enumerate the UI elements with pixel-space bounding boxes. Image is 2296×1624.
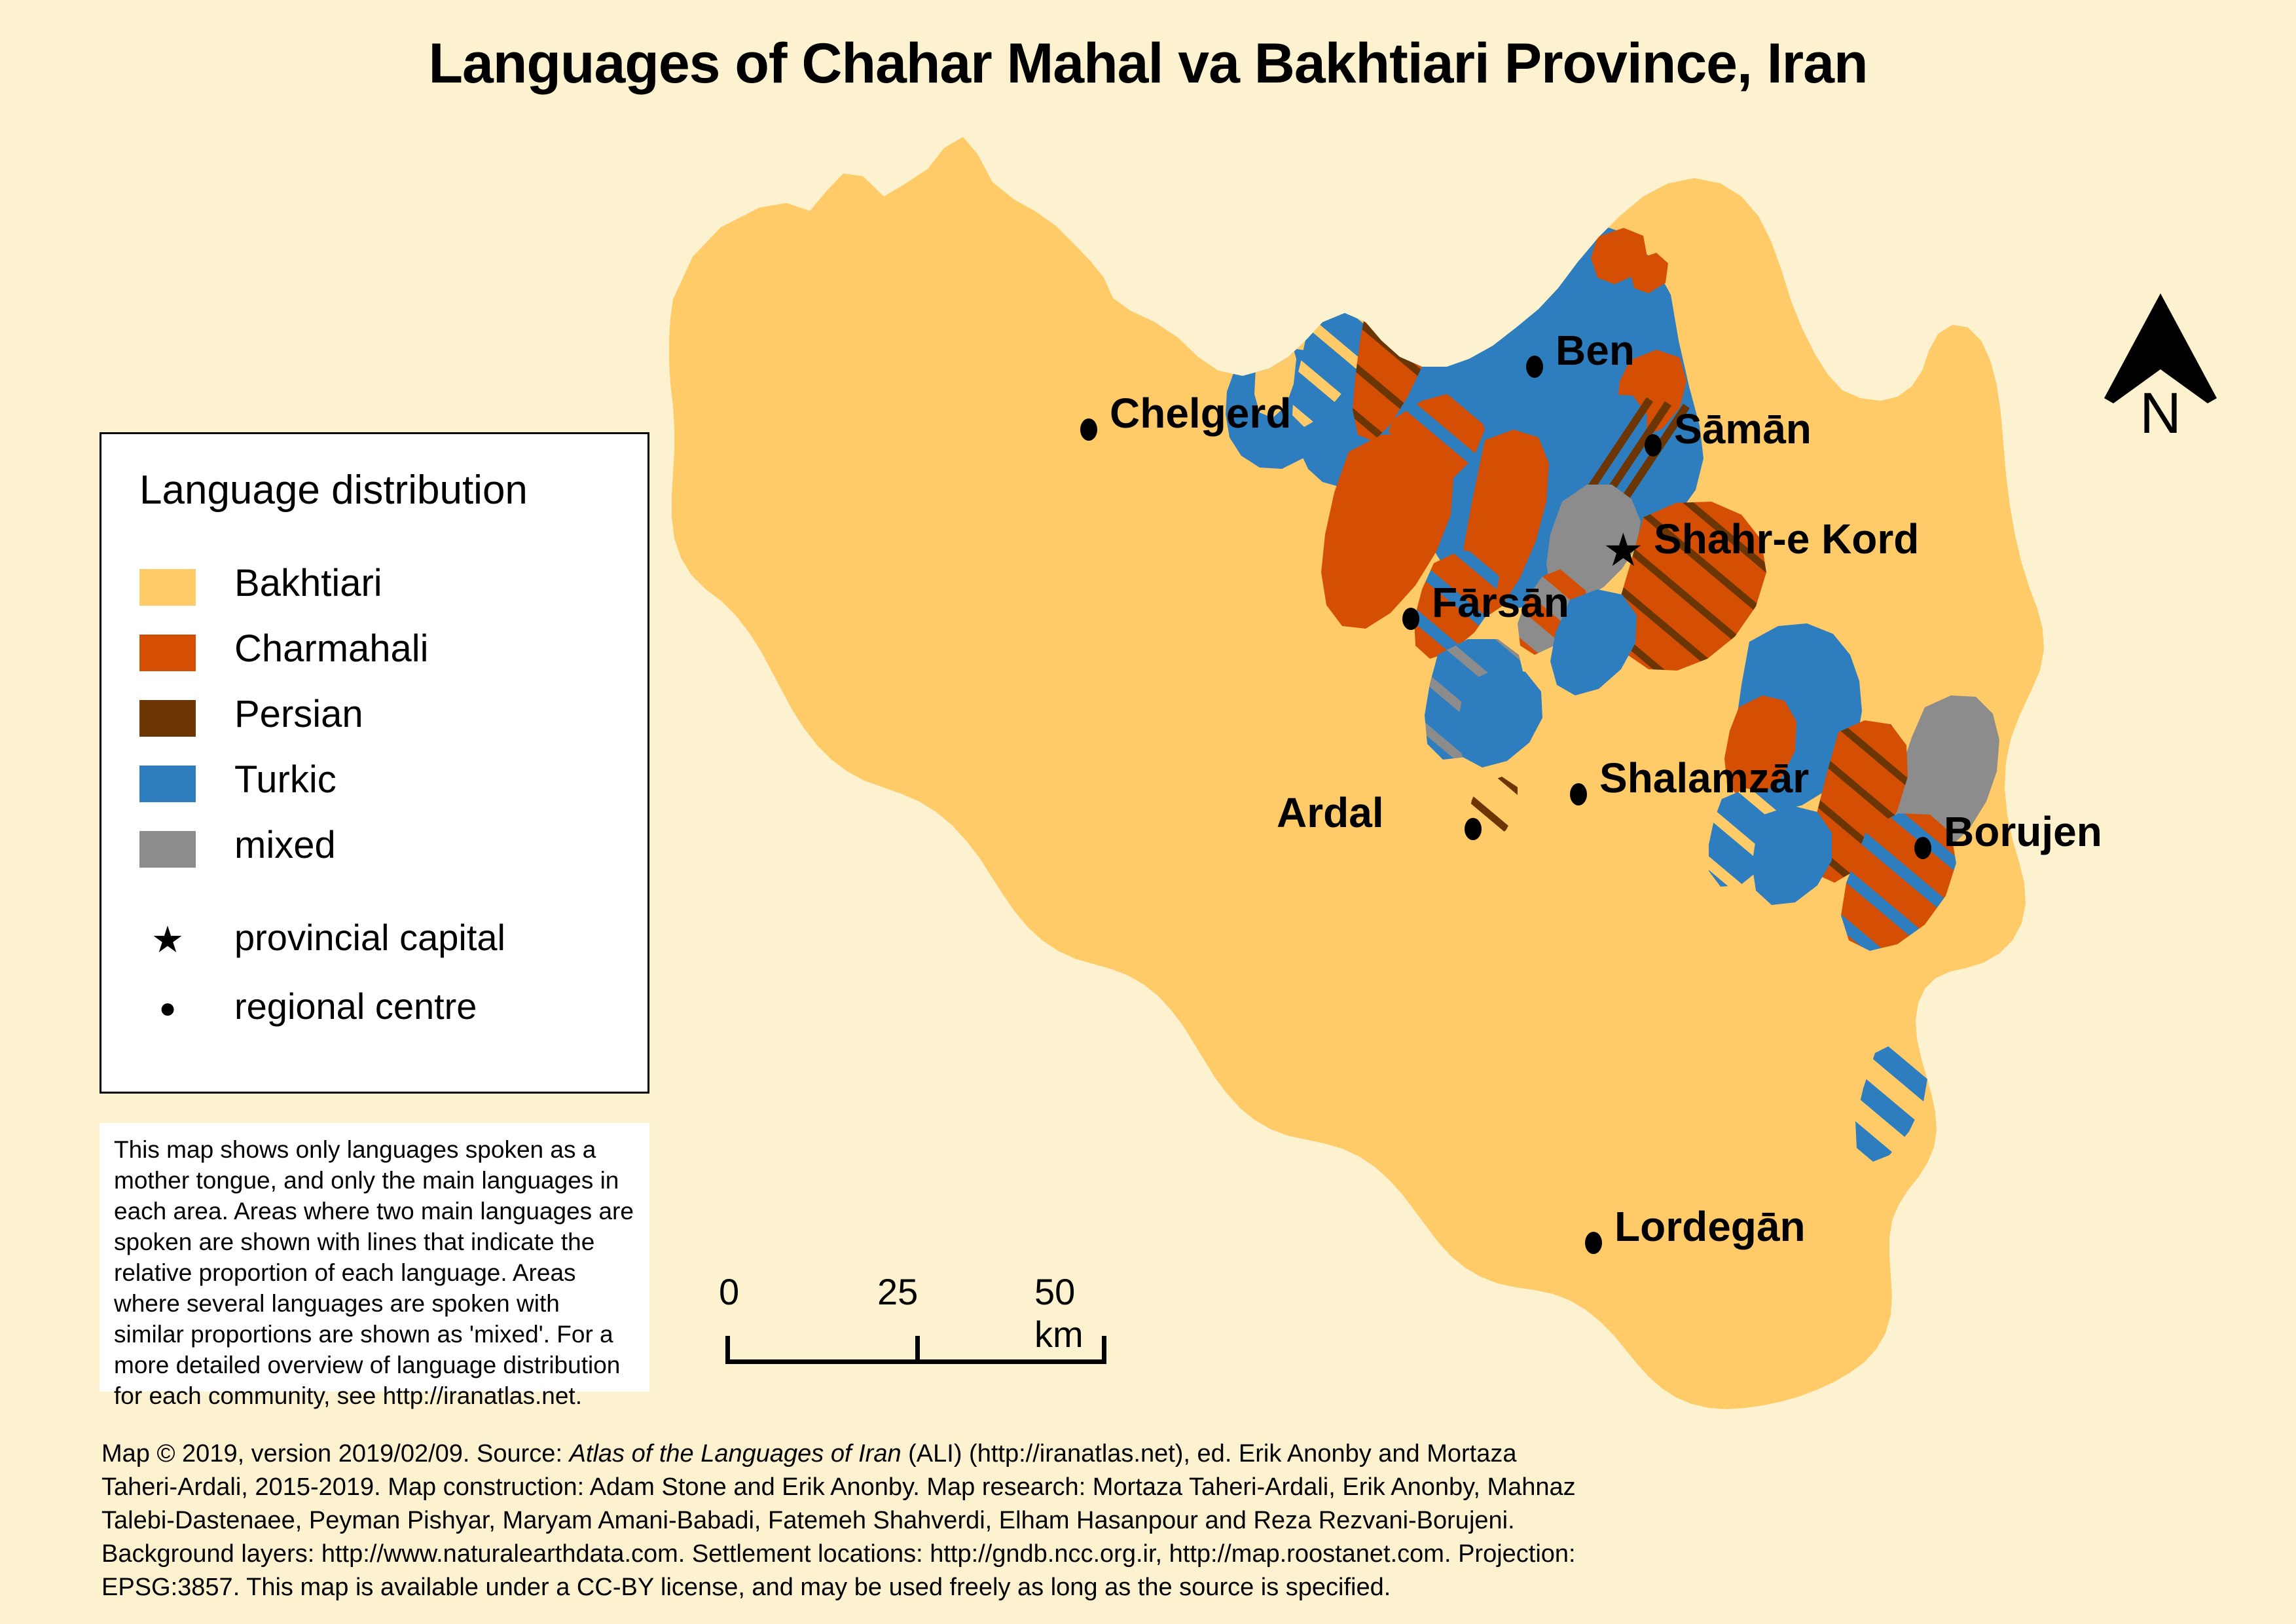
scale-tick-mark-mid (915, 1336, 920, 1359)
credits-line-1: Map © 2019, version 2019/02/09. Source: … (101, 1437, 1673, 1471)
legend-label-turkic: Turkic (234, 758, 337, 802)
city-label: Chelgerd (1110, 389, 1291, 437)
city-label: Lordegān (1614, 1202, 1806, 1251)
credits-line-3: Talebi-Dastenaee, Peyman Pishyar, Maryam… (101, 1504, 1673, 1538)
city-label: Ardal (1277, 788, 1384, 837)
star-icon: ★ (1603, 532, 1644, 568)
city-label: Borujen (1944, 807, 2102, 856)
scale-tick-0: 0 (719, 1270, 739, 1313)
scale-tick-mark-left (725, 1336, 730, 1359)
credits-line-4: Background layers: http://www.naturalear… (101, 1538, 1673, 1571)
dot-icon (1465, 818, 1482, 840)
credits-line-1c: (ALI) (http://iranatlas.net), ed. Erik A… (902, 1440, 1517, 1467)
legend-swatch-mixed (139, 831, 196, 868)
legend-heading: Language distribution (139, 467, 528, 513)
legend-swatch-persian (139, 700, 196, 737)
dot-icon: ● (139, 987, 196, 1029)
scale-bar: 0 25 50 km (714, 1270, 1133, 1382)
legend-swatch-turkic (139, 766, 196, 802)
scale-bar-line (725, 1359, 1106, 1364)
city-label: Shahr-e Kord (1654, 515, 1919, 563)
credits-text: Map © 2019, version 2019/02/09. Source: … (101, 1437, 1673, 1604)
legend-label-persian: Persian (234, 692, 363, 736)
dot-icon (1585, 1232, 1602, 1254)
scale-tick-50: 50 km (1034, 1270, 1133, 1356)
city-label: Shalamzār (1599, 754, 1809, 802)
credits-line-5: EPSG:3857. This map is available under a… (101, 1571, 1673, 1604)
city-label: Fārsān (1432, 578, 1569, 627)
city-label: Sāmān (1674, 405, 1812, 453)
city-label: Ben (1556, 326, 1635, 375)
credits-line-2: Taheri-Ardali, 2015-2019. Map constructi… (101, 1471, 1673, 1504)
legend-swatch-bakhtiari (139, 569, 196, 606)
legend-label-provincial-capital: provincial capital (234, 916, 505, 959)
dot-icon (1402, 608, 1419, 630)
star-icon: ★ (139, 919, 196, 961)
legend-label-charmahali: Charmahali (234, 627, 429, 671)
dot-icon (1645, 434, 1662, 456)
dot-icon (1570, 783, 1587, 805)
language-areas (669, 137, 2044, 1409)
legend-swatch-charmahali (139, 635, 196, 671)
scale-tick-mark-right (1102, 1336, 1106, 1359)
scale-tick-25: 25 (877, 1270, 918, 1313)
dot-icon (1526, 356, 1543, 378)
north-label: N (2088, 380, 2232, 447)
credits-line-1a: Map © 2019, version 2019/02/09. Source: (101, 1440, 570, 1467)
legend-label-regional-centre: regional centre (234, 985, 477, 1027)
legend-label-mixed: mixed (234, 823, 336, 867)
map-note-panel: This map shows only languages spoken as … (100, 1123, 649, 1392)
credits-source-title: Atlas of the Languages of Iran (570, 1440, 902, 1467)
dot-icon (1914, 837, 1931, 859)
map-note-text: This map shows only languages spoken as … (114, 1135, 635, 1412)
legend-panel: Language distribution Bakhtiari Charmaha… (100, 432, 649, 1094)
legend-label-bakhtiari: Bakhtiari (234, 561, 382, 605)
dot-icon (1080, 418, 1097, 441)
